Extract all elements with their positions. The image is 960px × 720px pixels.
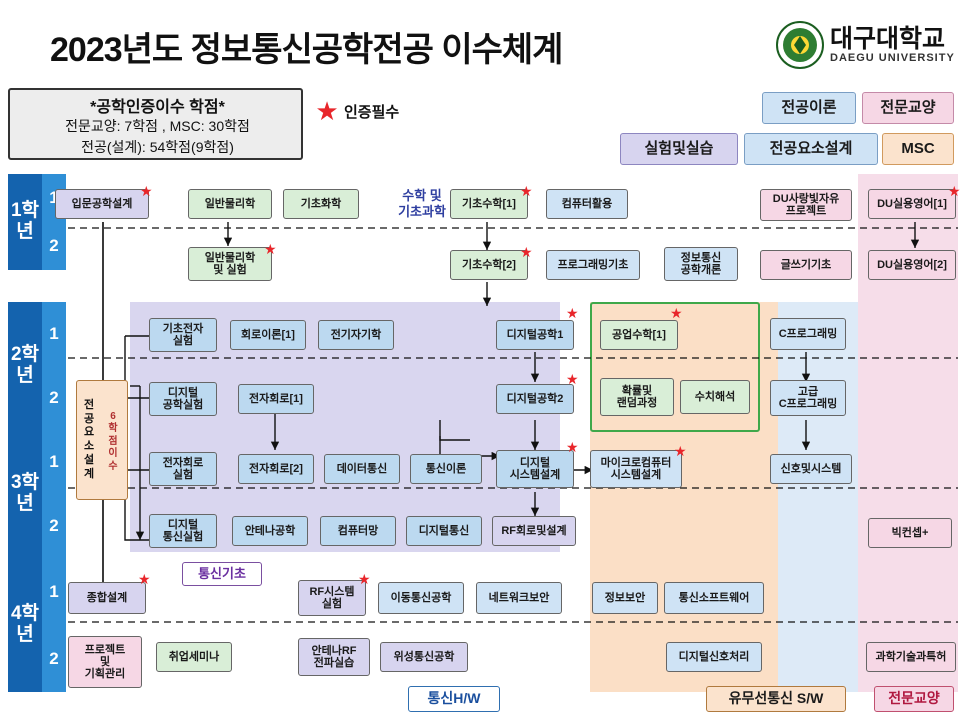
course-node[interactable]: 디지털통신 xyxy=(406,516,482,546)
legend-chip-lab-practice: 실험및실습 xyxy=(620,133,738,165)
course-node[interactable]: 회로이론[1] xyxy=(230,320,306,350)
course-node[interactable]: 입문공학설계 xyxy=(55,189,149,219)
course-node[interactable]: 전기자기학 xyxy=(318,320,394,350)
year-label-4: 4학년 xyxy=(8,558,42,692)
course-node[interactable]: 전자회로[1] xyxy=(238,384,314,414)
course-node[interactable]: 프로그래밍기초 xyxy=(546,250,640,280)
legend-chip-msc: MSC xyxy=(882,133,954,165)
course-node[interactable]: 기초수학[2] xyxy=(450,250,528,280)
required-star-icon: ★ xyxy=(314,98,340,124)
course-node[interactable]: 마이크로컴퓨터시스템설계 xyxy=(590,450,682,488)
star-icon: ★ xyxy=(138,572,151,586)
required-star-label: 인증필수 xyxy=(344,100,454,122)
course-node[interactable]: 기초화학 xyxy=(283,189,359,219)
star-icon: ★ xyxy=(566,306,579,320)
course-node[interactable]: 이동통신공학 xyxy=(378,582,464,614)
university-name: 대구대학교 xyxy=(830,22,958,52)
university-name-en: DAEGU UNIVERSITY xyxy=(830,52,958,68)
course-node[interactable]: 디지털공학실험 xyxy=(149,382,217,416)
course-node[interactable]: RF시스템실험 xyxy=(298,580,366,616)
semester-label-4-1: 1 xyxy=(42,558,66,625)
course-node[interactable]: 안테나RF전파실습 xyxy=(298,638,370,676)
university-logo xyxy=(775,20,825,70)
band-major-theory xyxy=(778,302,858,692)
star-icon: ★ xyxy=(566,372,579,386)
year-label-3: 3학년 xyxy=(8,430,42,558)
legend-chip-liberal-arts: 전문교양 xyxy=(862,92,954,124)
course-node[interactable]: 디지털공학1 xyxy=(496,320,574,350)
semester-label-1-2: 2 xyxy=(42,222,66,270)
star-icon: ★ xyxy=(566,440,579,454)
course-node[interactable]: 기초전자실험 xyxy=(149,318,217,352)
course-node[interactable]: 디지털통신실험 xyxy=(149,514,217,548)
course-node[interactable]: 빅컨셉+ xyxy=(868,518,952,548)
page-title: 2023년도 정보통신공학전공 이수체계 xyxy=(50,22,770,70)
course-node[interactable]: DU실용영어[2] xyxy=(868,250,956,280)
course-node[interactable]: DU실용영어[1] xyxy=(868,189,956,219)
star-icon: ★ xyxy=(948,184,960,198)
course-node[interactable]: 과학기술과특허 xyxy=(866,642,956,672)
star-icon: ★ xyxy=(140,184,153,198)
credit-legend-box: *공학인증이수 학점* 전문교양: 7학점 , MSC: 30학점 전공(설계)… xyxy=(8,88,303,160)
group-label-major-element-design: 전공요소설계 xyxy=(78,384,100,496)
star-icon: ★ xyxy=(670,306,683,320)
course-node[interactable]: 일반물리학및 실험 xyxy=(188,247,272,281)
course-node[interactable]: 위성통신공학 xyxy=(380,642,468,672)
course-node[interactable]: 정보통신공학개론 xyxy=(664,247,738,281)
course-node[interactable]: 데이터통신 xyxy=(324,454,400,484)
star-icon: ★ xyxy=(520,184,533,198)
course-node[interactable]: 프로젝트및기획관리 xyxy=(68,636,142,688)
course-node[interactable]: 네트워크보안 xyxy=(476,582,562,614)
semester-label-3-2: 2 xyxy=(42,494,66,558)
course-node[interactable]: 수치해석 xyxy=(680,380,750,414)
group-label-wired-wireless-sw: 유무선통신 S/W xyxy=(706,686,846,712)
course-node[interactable]: 취업세미나 xyxy=(156,642,232,672)
course-node[interactable]: 신호및시스템 xyxy=(770,454,852,484)
legend-chip-major-theory: 전공이론 xyxy=(762,92,856,124)
course-node[interactable]: 안테나공학 xyxy=(232,516,308,546)
course-node[interactable]: 확률및랜덤과정 xyxy=(600,378,674,416)
course-node[interactable]: 일반물리학 xyxy=(188,189,272,219)
course-node[interactable]: 통신소프트웨어 xyxy=(664,582,764,614)
group-label-liberal-arts: 전문교양 xyxy=(874,686,954,712)
group-label-major-element-design-credit: 6학점이수 xyxy=(102,394,124,490)
star-icon: ★ xyxy=(264,242,277,256)
semester-label-4-2: 2 xyxy=(42,625,66,692)
course-node[interactable]: 통신이론 xyxy=(410,454,482,484)
course-node[interactable]: 공업수학[1] xyxy=(600,320,678,350)
credit-legend-line1: 전문교양: 7학점 , MSC: 30학점 xyxy=(10,116,305,136)
course-node[interactable]: RF회로및설계 xyxy=(492,516,576,546)
course-node[interactable]: 글쓰기기초 xyxy=(760,250,852,280)
course-node[interactable]: 디지털시스템설계 xyxy=(496,450,574,488)
credit-legend-line2: 전공(설계): 54학점(9학점) xyxy=(10,137,305,157)
year-label-1: 1학년 xyxy=(8,174,42,270)
course-node[interactable]: 기초수학[1] xyxy=(450,189,528,219)
semester-label-2-2: 2 xyxy=(42,366,66,430)
course-node[interactable]: C프로그래밍 xyxy=(770,318,846,350)
course-node[interactable]: 디지털공학2 xyxy=(496,384,574,414)
course-node[interactable]: 고급C프로그래밍 xyxy=(770,380,846,416)
star-icon: ★ xyxy=(674,444,687,458)
group-label-comm-basic: 통신기초 xyxy=(182,562,262,586)
group-label-comm-hw: 통신H/W xyxy=(408,686,500,712)
course-node[interactable]: 정보보안 xyxy=(592,582,658,614)
star-icon: ★ xyxy=(358,572,371,586)
legend-chip-major-element-design: 전공요소설계 xyxy=(744,133,878,165)
credit-legend-title: *공학인증이수 학점* xyxy=(10,93,305,117)
course-node[interactable]: 전자회로[2] xyxy=(238,454,314,484)
semester-label-2-1: 1 xyxy=(42,302,66,366)
star-icon: ★ xyxy=(520,245,533,259)
course-node[interactable]: DU사랑빛자유프로젝트 xyxy=(760,189,852,221)
semester-label-3-1: 1 xyxy=(42,430,66,494)
course-node[interactable]: 전자회로실험 xyxy=(149,452,217,486)
course-node[interactable]: 디지털신호처리 xyxy=(666,642,762,672)
course-node[interactable]: 컴퓨터망 xyxy=(320,516,396,546)
course-node[interactable]: 종합설계 xyxy=(68,582,146,614)
course-node[interactable]: 컴퓨터활용 xyxy=(546,189,628,219)
year-label-2: 2학년 xyxy=(8,302,42,430)
